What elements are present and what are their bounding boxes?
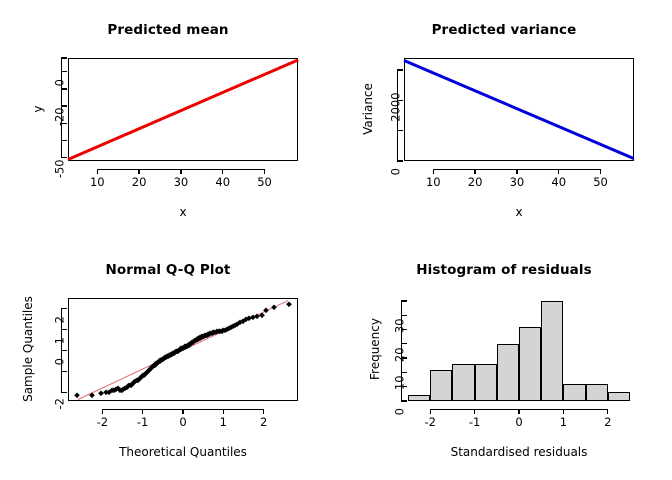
histogram-bar xyxy=(608,392,630,401)
axis-title-x-predicted-mean: x xyxy=(179,206,186,218)
axis-title-y-predicted-variance: Variance xyxy=(362,79,374,139)
data-layer-histogram xyxy=(336,240,672,480)
histogram-bar xyxy=(586,384,608,401)
histogram-bar xyxy=(430,370,452,401)
qq-data-point xyxy=(286,302,291,307)
panel-predicted-mean: Predicted mean 10203040500-20-50 x y xyxy=(0,0,336,240)
histogram-bar xyxy=(519,327,541,401)
axis-title-y-normal-qq: Sample Quantiles xyxy=(22,294,34,404)
axis-title-x-normal-qq: Theoretical Quantiles xyxy=(119,446,247,458)
histogram-bar xyxy=(452,364,474,401)
histogram-bar xyxy=(408,395,430,401)
axis-title-x-histogram: Standardised residuals xyxy=(451,446,588,458)
predicted-variance-line xyxy=(403,60,634,161)
histogram-bar xyxy=(563,384,585,401)
figure-canvas: Predicted mean 10203040500-20-50 x y Pre… xyxy=(0,0,672,480)
histogram-bar xyxy=(497,344,519,401)
data-layer-predicted-variance xyxy=(336,0,672,240)
data-layer-predicted-mean xyxy=(0,0,336,240)
panel-predicted-variance: Predicted variance 102030405002000 x Var… xyxy=(336,0,672,240)
predicted-mean-line xyxy=(67,58,298,160)
axis-title-x-predicted-variance: x xyxy=(515,206,522,218)
histogram-bar xyxy=(475,364,497,401)
axis-title-y-histogram: Frequency xyxy=(369,304,381,394)
qq-data-point xyxy=(271,305,276,310)
axis-title-y-predicted-mean: y xyxy=(32,79,44,139)
qq-data-point xyxy=(260,313,265,318)
panel-histogram-residuals: Histogram of residuals -2-10120102030 St… xyxy=(336,240,672,480)
qq-data-point xyxy=(75,393,80,398)
data-layer-normal-qq xyxy=(0,240,336,480)
qq-data-point xyxy=(263,307,268,312)
qq-data-point xyxy=(90,393,95,398)
histogram-bar xyxy=(541,301,563,401)
panel-normal-qq: Normal Q-Q Plot -2-1012210-2 Theoretical… xyxy=(0,240,336,480)
